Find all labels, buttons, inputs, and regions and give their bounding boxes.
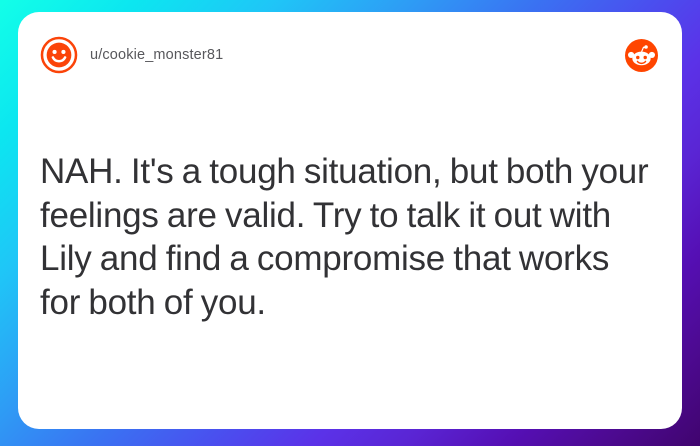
reddit-comment-card: u/cookie_monster81 NAH. It's a tough sit… [18,12,682,429]
author-block[interactable]: u/cookie_monster81 [40,36,625,74]
smiley-face-avatar-icon[interactable] [40,36,78,74]
comment-text: NAH. It's a tough situation, but both yo… [40,150,654,324]
gradient-background: u/cookie_monster81 NAH. It's a tough sit… [0,0,700,446]
card-body: NAH. It's a tough situation, but both yo… [18,98,682,324]
reddit-snoo-logo-icon[interactable] [625,39,658,72]
author-username: u/cookie_monster81 [90,47,223,63]
card-header: u/cookie_monster81 [18,12,682,98]
